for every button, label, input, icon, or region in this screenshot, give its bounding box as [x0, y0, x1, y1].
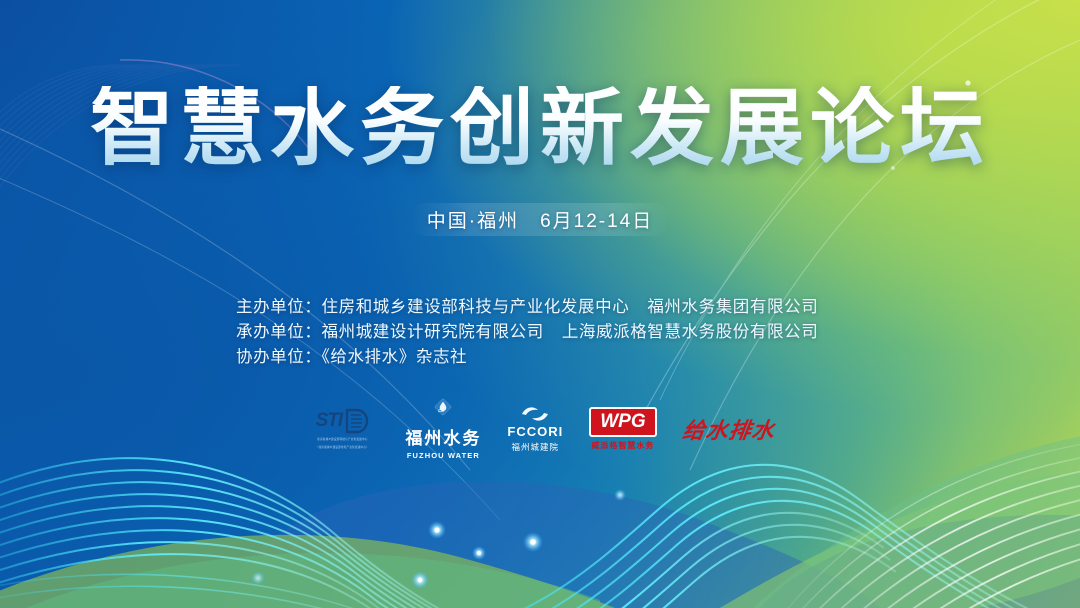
conference-poster: 智慧水务创新发展论坛 中国·福州 6月12-14日 主办单位：住房和城乡建设部科… — [0, 0, 1080, 608]
subtitle-container: 中国·福州 6月12-14日 — [0, 203, 1080, 236]
host-value: 住房和城乡建设部科技与产业化发展中心 — [322, 298, 630, 316]
sti-mark: STI — [316, 408, 370, 434]
co-organizer-value: 《给水排水》杂志社 — [322, 348, 468, 366]
fccori-swirl-icon — [518, 405, 552, 423]
event-location-date: 中国·福州 6月12-14日 — [411, 203, 670, 236]
logo-wpg: WPG 威派格智慧水务 — [589, 398, 656, 460]
host-label: 主办单位： — [236, 298, 322, 316]
organizers-block: 主办单位：住房和城乡建设部科技与产业化发展中心福州水务集团有限公司 承办单位：福… — [236, 295, 876, 370]
wpg-wordmark: WPG — [600, 411, 645, 432]
water-drop-diamond-icon — [421, 398, 465, 416]
logo-fccori: FCCORI 福州城建院 — [507, 398, 563, 460]
fccori-cn: 福州城建院 — [512, 441, 560, 453]
sponsor-logo-strip: STI 住房和城乡建设部科技与产业化发展中心 （住房和城乡建设部住宅产业化促进中… — [0, 398, 1080, 460]
page-title: 智慧水务创新发展论坛 — [0, 86, 1080, 170]
fccori-wordmark: FCCORI — [507, 424, 563, 439]
logo-sti: STI 住房和城乡建设部科技与产业化发展中心 （住房和城乡建设部住宅产业化促进中… — [305, 398, 379, 460]
fuzhou-water-cn: 福州水务 — [405, 424, 481, 449]
sti-caption-2: （住房和城乡建设部住宅产业化促进中心） — [305, 446, 379, 450]
sti-wordmark: STI — [316, 410, 343, 432]
sti-d-icon — [345, 408, 369, 434]
organizer-value: 福州城建设计研究院有限公司 — [322, 323, 544, 341]
logo-fuzhou-water: 福州水务 FUZHOU WATER — [405, 398, 481, 460]
host-value-2: 福州水务集团有限公司 — [647, 298, 818, 316]
co-organizer-label: 协办单位： — [236, 348, 322, 366]
organizer-label: 承办单位： — [236, 323, 322, 341]
organizer-line-host: 主办单位：住房和城乡建设部科技与产业化发展中心福州水务集团有限公司 — [236, 295, 876, 320]
fuzhou-water-text: 福州水务 FUZHOU WATER — [405, 424, 481, 460]
logo-water-supply-drainage: 给水排水 — [683, 398, 775, 460]
organizer-line-co-organizer: 协办单位：《给水排水》杂志社 — [236, 345, 876, 370]
water-supply-drainage-cn: 给水排水 — [680, 413, 777, 445]
fuzhou-water-en: FUZHOU WATER — [407, 451, 480, 460]
wpg-cn: 威派格智慧水务 — [591, 440, 654, 451]
wpg-badge: WPG — [589, 407, 656, 437]
sti-caption-1: 住房和城乡建设部科技与产业化发展中心 — [305, 438, 379, 442]
organizer-value-2: 上海威派格智慧水务股份有限公司 — [562, 323, 819, 341]
organizer-line-organizer: 承办单位：福州城建设计研究院有限公司上海威派格智慧水务股份有限公司 — [236, 320, 876, 345]
